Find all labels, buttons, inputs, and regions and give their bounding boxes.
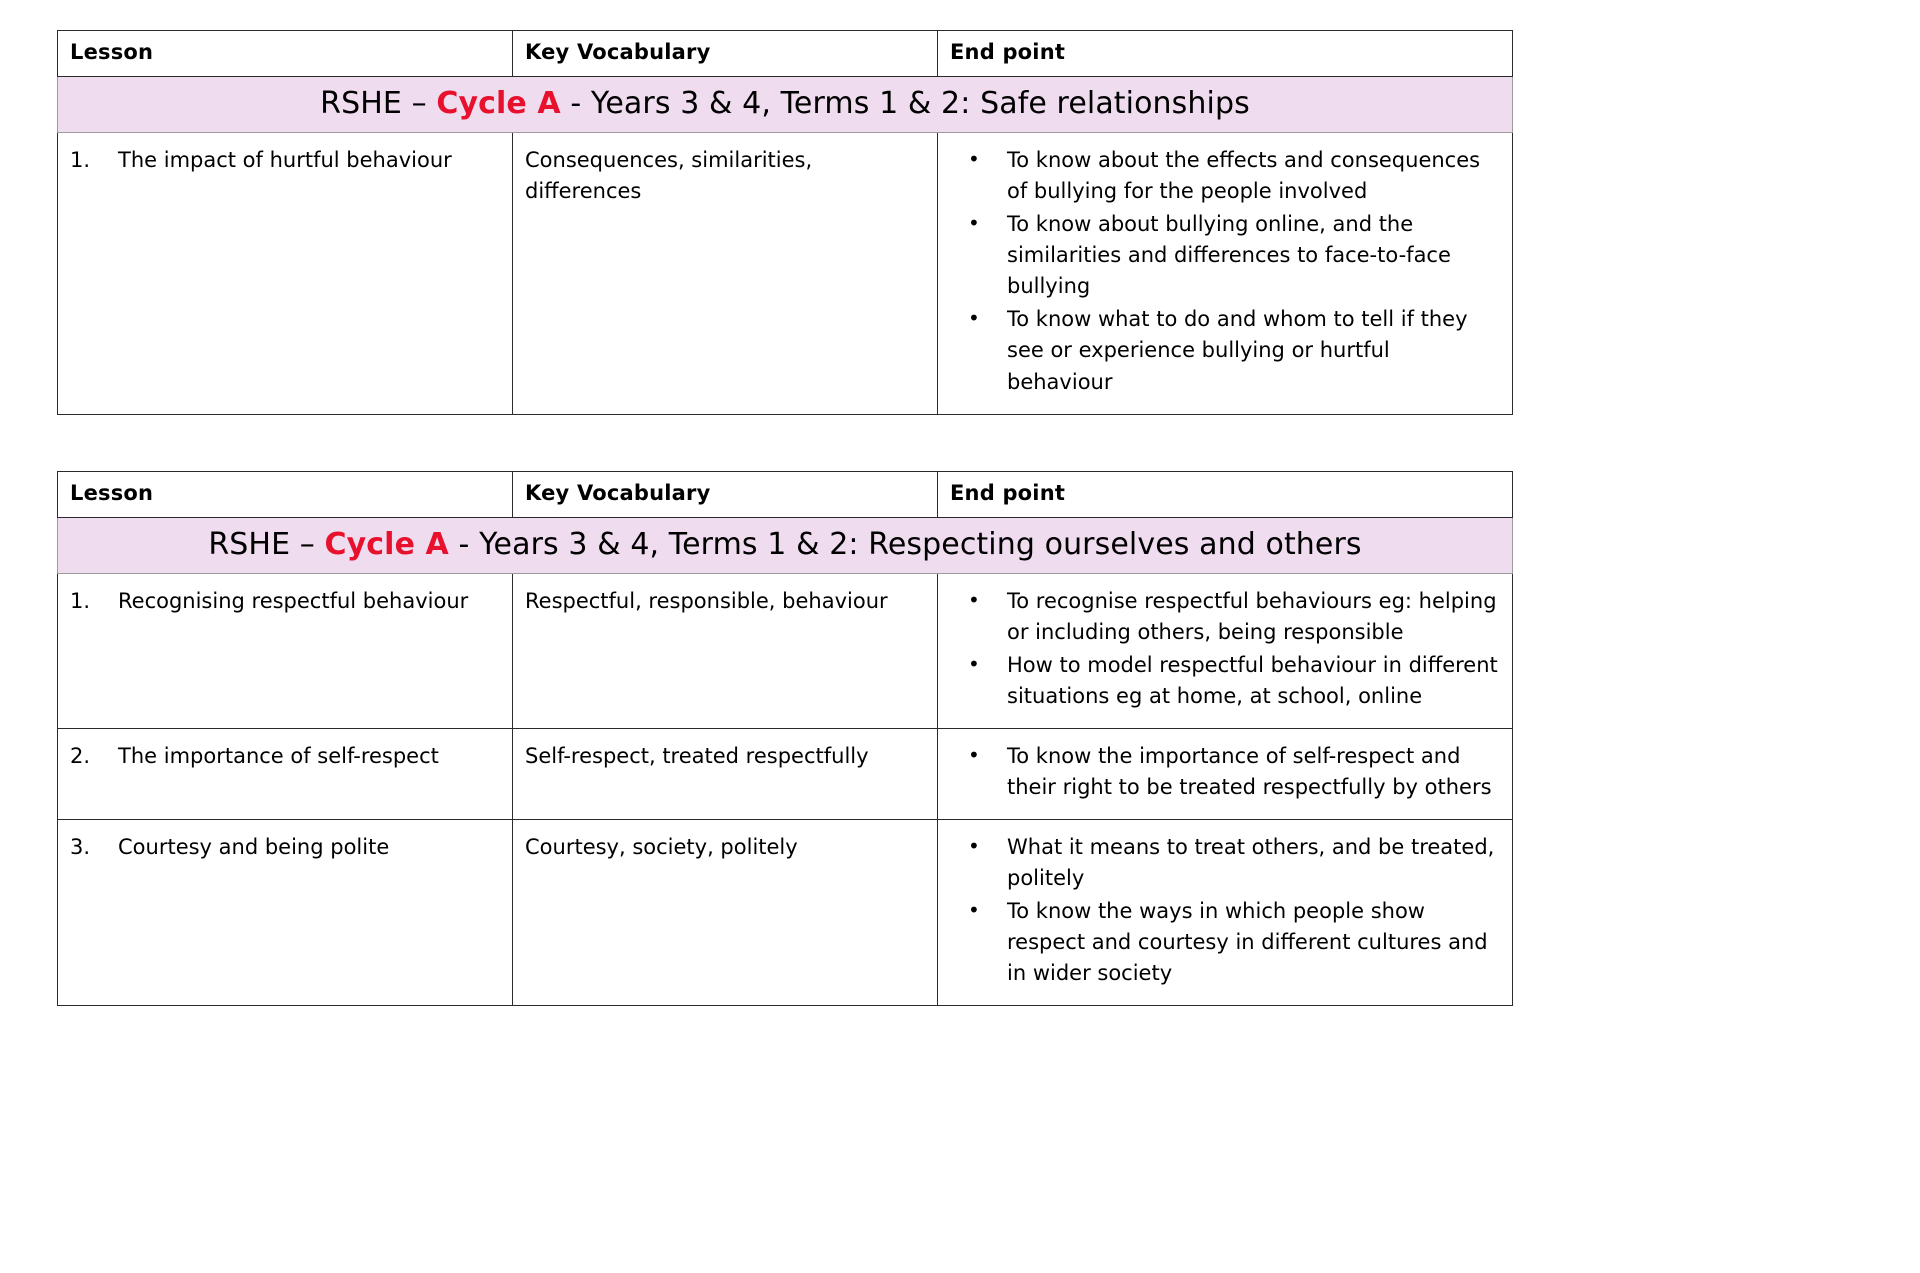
table-title-row: RSHE – Cycle A - Years 3 & 4, Terms 1 & … [58,517,1513,573]
end-point-list: To recognise respectful behaviours eg: h… [950,586,1500,712]
end-point-list: To know about the effects and consequenc… [950,145,1500,398]
table-row: 2. The importance of self-respect Self-r… [58,728,1513,819]
lesson-number: 3. [70,832,118,863]
curriculum-table-respecting-ourselves-and-others: RSHE – Cycle A - Years 3 & 4, Terms 1 & … [57,471,1513,1007]
table-body: 1. Recognising respectful behaviour Resp… [58,573,1513,1006]
column-header-key-vocabulary: Key Vocabulary [513,471,938,517]
vocabulary-cell: Self-respect, treated respectfully [513,728,938,819]
table-row: 1. Recognising respectful behaviour Resp… [58,573,1513,728]
table-title-cell: RSHE – Cycle A - Years 3 & 4, Terms 1 & … [58,517,1513,573]
end-point-item: How to model respectful behaviour in dif… [950,650,1500,712]
end-point-cell: To know the importance of self-respect a… [938,728,1513,819]
lesson-title: The impact of hurtful behaviour [118,145,500,176]
title-cycle: Cycle A [436,86,560,121]
table-title: RSHE – Cycle A - Years 3 & 4, Terms 1 & … [320,86,1250,121]
vocabulary-cell: Respectful, responsible, behaviour [513,573,938,728]
column-header-row: Lesson Key Vocabulary End point [58,31,1513,77]
title-cycle: Cycle A [325,527,449,562]
lesson-title: The importance of self-respect [118,741,500,772]
end-point-item: To know the ways in which people show re… [950,896,1500,989]
end-point-cell: To recognise respectful behaviours eg: h… [938,573,1513,728]
vocabulary-cell: Consequences, similarities, differences [513,133,938,415]
vocabulary-text: Consequences, similarities, differences [525,148,812,203]
end-point-item: To know the importance of self-respect a… [950,741,1500,803]
document-page: RSHE – Cycle A - Years 3 & 4, Terms 1 & … [0,0,1920,1273]
lesson-number: 2. [70,741,118,772]
column-header-key-vocabulary: Key Vocabulary [513,31,938,77]
column-header-end-point: End point [938,31,1513,77]
column-header-lesson: Lesson [58,471,513,517]
title-suffix: - Years 3 & 4, Terms 1 & 2: Safe relatio… [561,86,1250,121]
curriculum-table-safe-relationships: RSHE – Cycle A - Years 3 & 4, Terms 1 & … [57,30,1513,415]
end-point-item: To know about the effects and consequenc… [950,145,1500,207]
title-prefix: RSHE – [320,86,436,121]
lesson-cell: 1. The impact of hurtful behaviour [58,133,513,415]
table-title-row: RSHE – Cycle A - Years 3 & 4, Terms 1 & … [58,77,1513,133]
vocabulary-text: Respectful, responsible, behaviour [525,589,888,613]
end-point-cell: What it means to treat others, and be tr… [938,820,1513,1006]
column-header-lesson: Lesson [58,31,513,77]
table-row: 3. Courtesy and being polite Courtesy, s… [58,820,1513,1006]
table-row: 1. The impact of hurtful behaviour Conse… [58,133,1513,415]
lesson-cell: 2. The importance of self-respect [58,728,513,819]
end-point-item: To recognise respectful behaviours eg: h… [950,586,1500,648]
vocabulary-text: Courtesy, society, politely [525,835,798,859]
table-body: 1. The impact of hurtful behaviour Conse… [58,133,1513,415]
column-header-row: Lesson Key Vocabulary End point [58,471,1513,517]
end-point-list: What it means to treat others, and be tr… [950,832,1500,989]
end-point-item: To know what to do and whom to tell if t… [950,304,1500,397]
end-point-cell: To know about the effects and consequenc… [938,133,1513,415]
end-point-item: To know about bullying online, and the s… [950,209,1500,302]
end-point-list: To know the importance of self-respect a… [950,741,1500,803]
vocabulary-cell: Courtesy, society, politely [513,820,938,1006]
lesson-number: 1. [70,586,118,617]
title-suffix: - Years 3 & 4, Terms 1 & 2: Respecting o… [449,527,1362,562]
table-title-cell: RSHE – Cycle A - Years 3 & 4, Terms 1 & … [58,77,1513,133]
lesson-number: 1. [70,145,118,176]
lesson-cell: 3. Courtesy and being polite [58,820,513,1006]
column-header-end-point: End point [938,471,1513,517]
table-title: RSHE – Cycle A - Years 3 & 4, Terms 1 & … [208,527,1361,562]
title-prefix: RSHE – [208,527,324,562]
vocabulary-text: Self-respect, treated respectfully [525,744,869,768]
end-point-item: What it means to treat others, and be tr… [950,832,1500,894]
lesson-cell: 1. Recognising respectful behaviour [58,573,513,728]
lesson-title: Courtesy and being polite [118,832,500,863]
lesson-title: Recognising respectful behaviour [118,586,500,617]
